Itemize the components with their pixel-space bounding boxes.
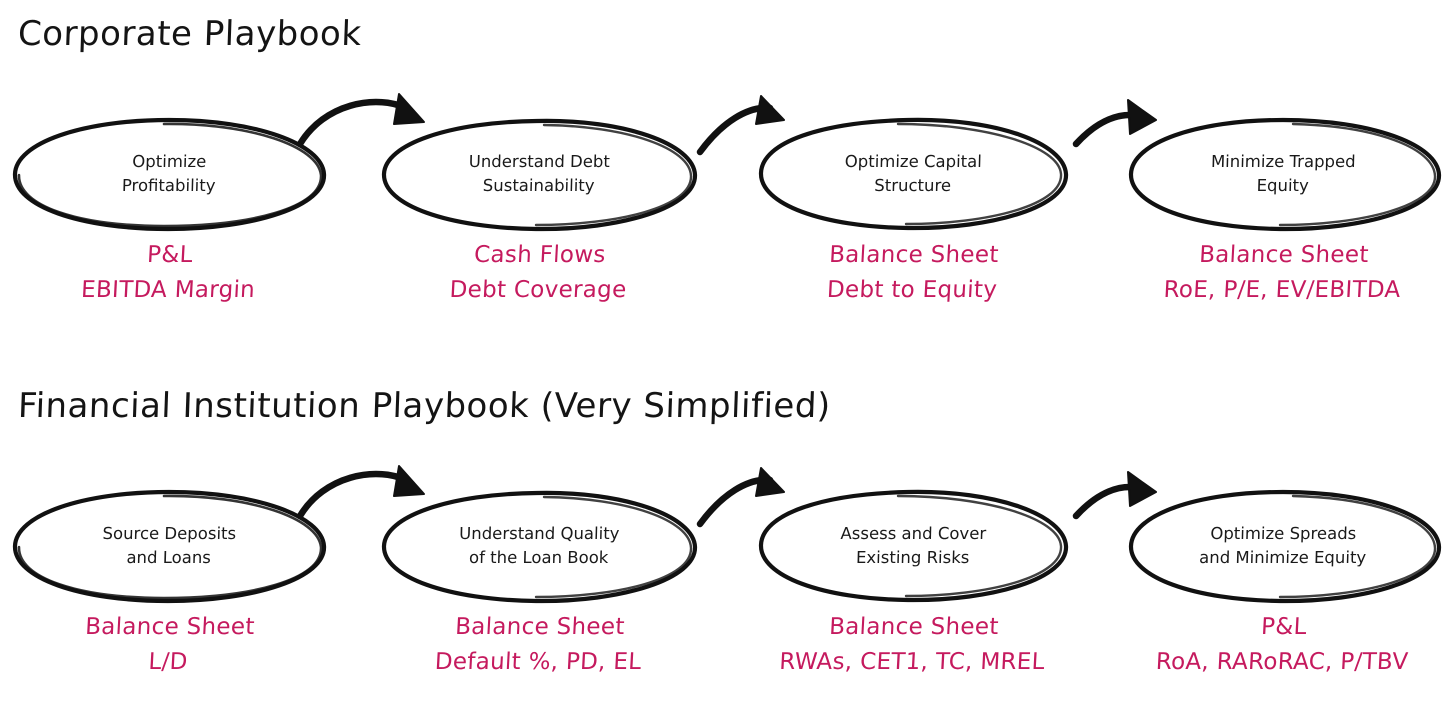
node-metric-line-1: Balance Sheet bbox=[374, 610, 706, 645]
playbook-row-corporate: Optimize Profitability P&L EBITDA Margin… bbox=[0, 96, 1456, 336]
node-metric-line-1: Balance Sheet bbox=[4, 610, 336, 645]
node-financial-2[interactable]: Understand Quality of the Loan Book Bala… bbox=[374, 468, 704, 708]
playbook-row-financial: Source Deposits and Loans Balance Sheet … bbox=[0, 468, 1456, 708]
node-financial-4[interactable]: Optimize Spreads and Minimize Equity P&L… bbox=[1118, 468, 1448, 708]
node-metric-line-2: Default %, PD, EL bbox=[372, 645, 704, 680]
node-ellipse bbox=[374, 486, 704, 606]
section-title-financial: Financial Institution Playbook (Very Sim… bbox=[17, 386, 831, 426]
node-metric-line-2: RoE, P/E, EV/EBITDA bbox=[1116, 273, 1448, 308]
node-metric-line-1: Cash Flows bbox=[374, 238, 706, 273]
node-corporate-1[interactable]: Optimize Profitability P&L EBITDA Margin bbox=[4, 96, 334, 336]
node-metric-line-2: Debt Coverage bbox=[372, 273, 704, 308]
node-metrics: Balance Sheet RoE, P/E, EV/EBITDA bbox=[1116, 238, 1450, 307]
node-metrics: Balance Sheet RWAs, CET1, TC, MREL bbox=[746, 610, 1080, 679]
node-ellipse bbox=[748, 486, 1078, 606]
node-metric-line-1: Balance Sheet bbox=[748, 610, 1080, 645]
node-metrics: Cash Flows Debt Coverage bbox=[372, 238, 706, 307]
node-metric-line-1: P&L bbox=[1118, 610, 1450, 645]
node-corporate-3[interactable]: Optimize Capital Structure Balance Sheet… bbox=[748, 96, 1078, 336]
node-metric-line-2: RWAs, CET1, TC, MREL bbox=[746, 645, 1078, 680]
node-ellipse bbox=[1118, 114, 1448, 234]
node-metrics: Balance Sheet Debt to Equity bbox=[746, 238, 1080, 307]
node-metrics: Balance Sheet Default %, PD, EL bbox=[372, 610, 706, 679]
diagram-canvas: Corporate Playbook bbox=[0, 0, 1456, 704]
node-corporate-4[interactable]: Minimize Trapped Equity Balance Sheet Ro… bbox=[1118, 96, 1448, 336]
node-financial-3[interactable]: Assess and Cover Existing Risks Balance … bbox=[748, 468, 1078, 708]
node-financial-1[interactable]: Source Deposits and Loans Balance Sheet … bbox=[4, 468, 334, 708]
node-metric-line-2: L/D bbox=[2, 645, 334, 680]
node-metric-line-2: Debt to Equity bbox=[746, 273, 1078, 308]
node-metric-line-2: EBITDA Margin bbox=[2, 273, 334, 308]
node-ellipse bbox=[1118, 486, 1448, 606]
node-ellipse bbox=[374, 114, 704, 234]
node-metrics: P&L EBITDA Margin bbox=[2, 238, 336, 307]
node-metric-line-1: Balance Sheet bbox=[748, 238, 1080, 273]
node-metric-line-2: RoA, RARoRAC, P/TBV bbox=[1116, 645, 1448, 680]
node-ellipse bbox=[4, 114, 334, 234]
node-metric-line-1: Balance Sheet bbox=[1118, 238, 1450, 273]
section-title-corporate: Corporate Playbook bbox=[17, 14, 362, 54]
node-ellipse bbox=[748, 114, 1078, 234]
node-metrics: P&L RoA, RARoRAC, P/TBV bbox=[1116, 610, 1450, 679]
node-metric-line-1: P&L bbox=[4, 238, 336, 273]
node-ellipse bbox=[4, 486, 334, 606]
node-metrics: Balance Sheet L/D bbox=[2, 610, 336, 679]
node-corporate-2[interactable]: Understand Debt Sustainability Cash Flow… bbox=[374, 96, 704, 336]
